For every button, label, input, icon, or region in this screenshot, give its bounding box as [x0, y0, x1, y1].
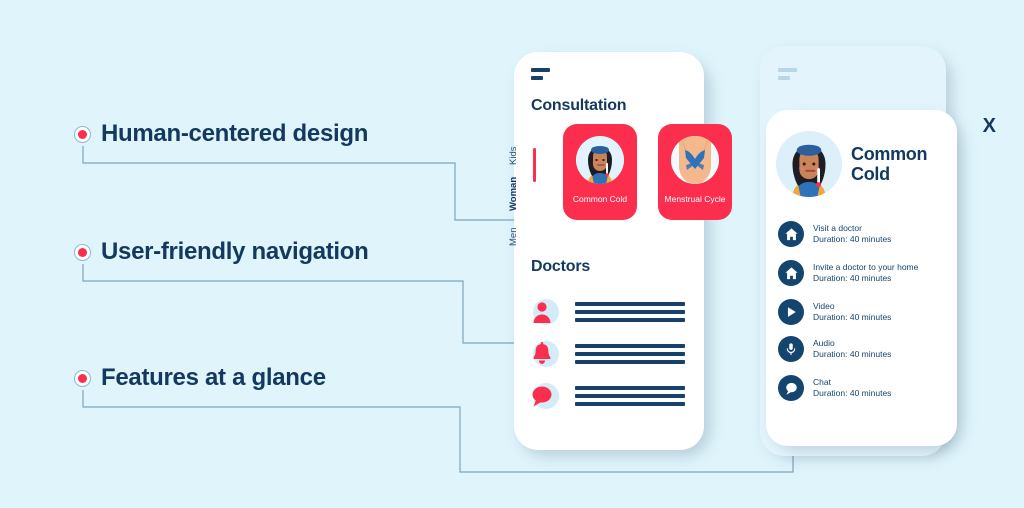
page-title: Common Cold: [851, 144, 927, 184]
service-item-visit-a-doctor[interactable]: Visit a doctor Duration: 40 minutes: [778, 221, 891, 247]
chat-bubble-icon: [529, 381, 559, 411]
home-icon: [778, 260, 804, 286]
service-name: Video: [813, 301, 891, 312]
consultation-card-label: Menstrual Cycle: [665, 195, 726, 204]
connector-line-2: [83, 264, 530, 343]
dot-bullet-icon: [74, 126, 91, 143]
feature-label: Features at a glance: [101, 364, 326, 392]
microphone-icon: [778, 336, 804, 362]
service-item-chat[interactable]: Chat Duration: 40 minutes: [778, 375, 891, 401]
feature-item-3[interactable]: Features at a glance: [74, 364, 326, 392]
close-icon[interactable]: X: [983, 116, 996, 136]
dot-bullet-icon: [74, 244, 91, 261]
service-duration: Duration: 40 minutes: [813, 234, 891, 245]
page-title-line-2: Cold: [851, 164, 927, 184]
chat-bubble-icon: [778, 375, 804, 401]
page-title-line-1: Common: [851, 144, 927, 164]
doctor-placeholder-lines: [575, 302, 685, 322]
tab-active-indicator: [533, 148, 536, 182]
service-duration: Duration: 40 minutes: [813, 312, 891, 323]
hamburger-menu-icon[interactable]: [778, 68, 797, 80]
girl-with-cold-avatar: [776, 131, 842, 197]
play-icon: [778, 299, 804, 325]
feature-item-2[interactable]: User-friendly navigation: [74, 238, 369, 266]
consultation-heading: Consultation: [531, 97, 626, 115]
tab-men[interactable]: Men: [508, 228, 519, 246]
doctor-list-item-2[interactable]: [529, 339, 685, 369]
abdomen-illustration-avatar: [671, 136, 719, 184]
bell-icon: [529, 339, 559, 369]
dot-bullet-icon: [74, 370, 91, 387]
gender-tabs: Kids Woman Men: [513, 118, 535, 226]
service-item-audio[interactable]: Audio Duration: 40 minutes: [778, 336, 891, 362]
doctors-heading: Doctors: [531, 258, 590, 276]
feature-label: Human-centered design: [101, 120, 368, 148]
tab-kids[interactable]: Kids: [508, 147, 519, 165]
service-name: Audio: [813, 338, 891, 349]
service-duration: Duration: 40 minutes: [813, 273, 918, 284]
doctor-placeholder-lines: [575, 386, 685, 406]
doctor-list-item-3[interactable]: [529, 381, 685, 411]
connector-line-1: [83, 146, 530, 220]
feature-item-1[interactable]: Human-centered design: [74, 120, 368, 148]
service-item-invite-a-doctor-to-your-home[interactable]: Invite a doctor to your home Duration: 4…: [778, 260, 918, 286]
doctor-placeholder-lines: [575, 344, 685, 364]
tab-woman[interactable]: Woman: [508, 177, 519, 211]
service-item-video[interactable]: Video Duration: 40 minutes: [778, 299, 891, 325]
service-duration: Duration: 40 minutes: [813, 349, 891, 360]
home-icon: [778, 221, 804, 247]
person-icon: [529, 297, 559, 327]
consultation-card-menstrual-cycle[interactable]: Menstrual Cycle: [658, 124, 732, 220]
girl-with-cold-avatar: [576, 136, 624, 184]
doctor-list-item-1[interactable]: [529, 297, 685, 327]
consultation-card-common-cold[interactable]: Common Cold: [563, 124, 637, 220]
consultation-card-label: Common Cold: [573, 195, 627, 204]
hamburger-menu-icon[interactable]: [531, 68, 550, 80]
service-name: Chat: [813, 377, 891, 388]
service-name: Invite a doctor to your home: [813, 262, 918, 273]
service-name: Visit a doctor: [813, 223, 891, 234]
feature-label: User-friendly navigation: [101, 238, 369, 266]
service-duration: Duration: 40 minutes: [813, 388, 891, 399]
infographic-canvas: Human-centered design User-friendly navi…: [0, 0, 1024, 508]
